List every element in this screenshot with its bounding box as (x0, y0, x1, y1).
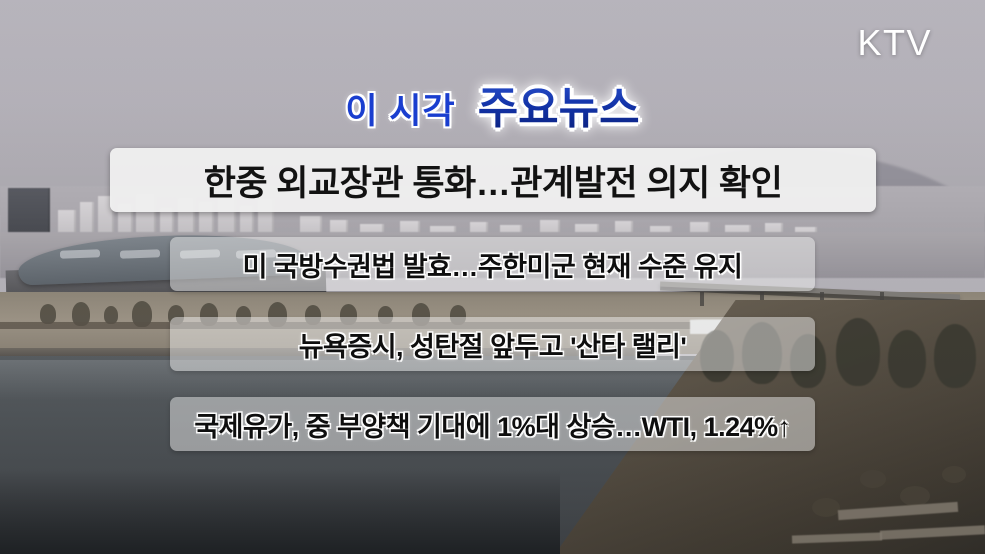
headline-item-2-text: 뉴욕증시, 성탄절 앞두고 '산타 랠리' (299, 325, 687, 364)
headline-item-2[interactable]: 뉴욕증시, 성탄절 앞두고 '산타 랠리' (170, 317, 815, 371)
channel-logo: KTV (857, 22, 932, 64)
broadcast-screen: KTV 이 시각주요뉴스 한중 외교장관 통화…관계발전 의지 확인 미 국방수… (0, 0, 985, 554)
title-prefix: 이 시각 (345, 83, 455, 134)
featured-headline-text: 한중 외교장관 통화…관계발전 의지 확인 (204, 155, 783, 206)
headline-item-1-text: 미 국방수권법 발효…주한미군 현재 수준 유지 (243, 245, 743, 284)
program-title: 이 시각주요뉴스 (0, 72, 985, 136)
headline-item-1[interactable]: 미 국방수권법 발효…주한미군 현재 수준 유지 (170, 237, 815, 291)
title-main: 주요뉴스 (478, 72, 640, 136)
featured-headline-bar[interactable]: 한중 외교장관 통화…관계발전 의지 확인 (110, 148, 876, 212)
headline-item-3-text: 국제유가, 중 부양책 기대에 1%대 상승…WTI, 1.24%↑ (194, 405, 790, 444)
headline-item-3[interactable]: 국제유가, 중 부양책 기대에 1%대 상승…WTI, 1.24%↑ (170, 397, 815, 451)
